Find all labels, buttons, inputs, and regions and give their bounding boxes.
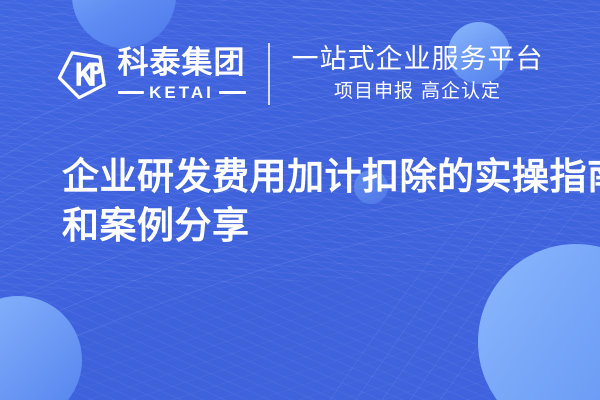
tagline-sub: 项目申报 高企认定 bbox=[292, 81, 544, 103]
brand-name-cn: 科泰集团 bbox=[118, 48, 246, 79]
ketai-kp-diamond-logo-icon bbox=[57, 47, 109, 101]
page-title-line-2: 和案例分享 bbox=[62, 201, 562, 250]
banner-header: 科泰集团 KETAI 一站式企业服务平台 项目申报 高企认定 bbox=[0, 36, 600, 112]
page-title: 企业研发费用加计扣除的实操指南 和案例分享 bbox=[62, 152, 562, 250]
brand-logo-text: 科泰集团 KETAI bbox=[118, 48, 246, 101]
logo-dash-left bbox=[118, 91, 145, 94]
tagline-main: 一站式企业服务平台 bbox=[292, 45, 544, 75]
page-title-line-1: 企业研发费用加计扣除的实操指南 bbox=[62, 152, 562, 201]
logo-dash-right bbox=[219, 91, 246, 94]
promo-banner: 科泰集团 KETAI 一站式企业服务平台 项目申报 高企认定 企业研发费用加计扣… bbox=[0, 0, 600, 400]
brand-logo: 科泰集团 KETAI bbox=[57, 47, 268, 101]
brand-name-en-row: KETAI bbox=[118, 84, 246, 101]
brand-name-en: KETAI bbox=[149, 84, 214, 101]
tagline-block: 一站式企业服务平台 项目申报 高企认定 bbox=[270, 45, 544, 103]
